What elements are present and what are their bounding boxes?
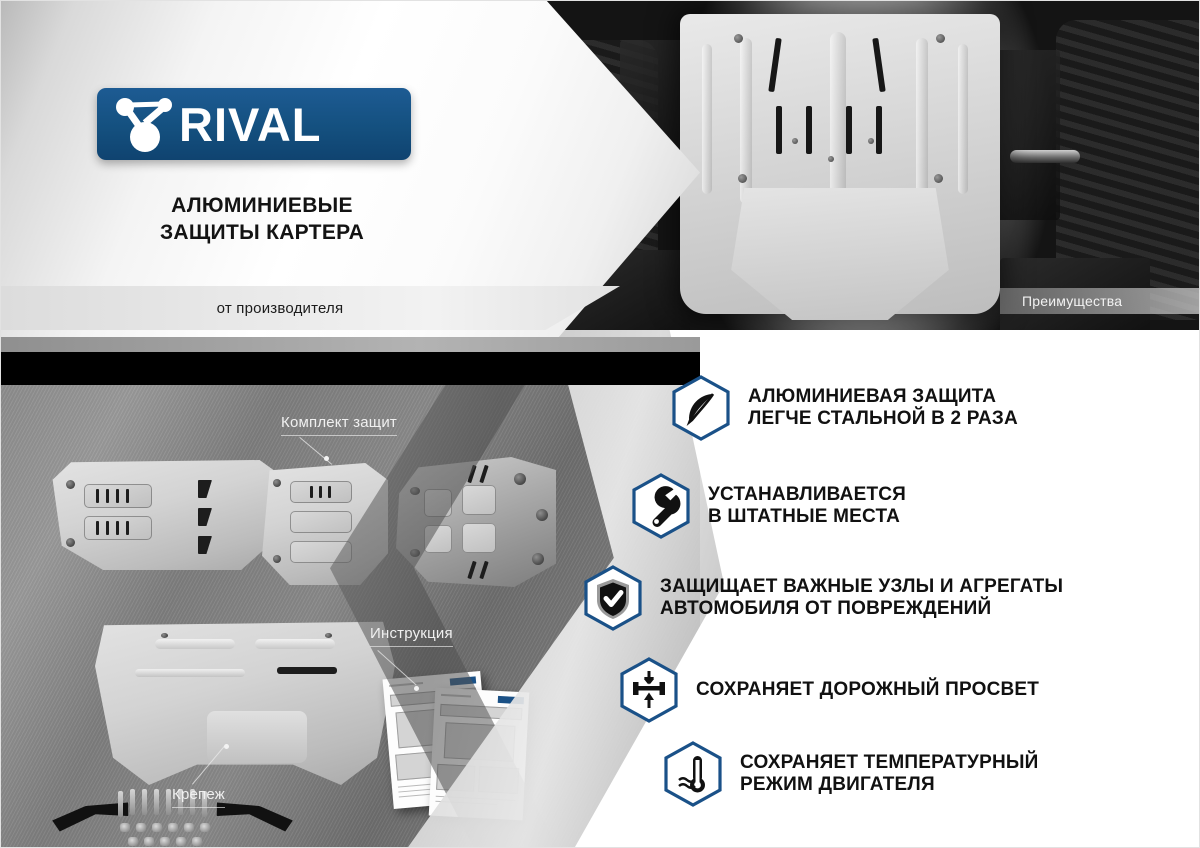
feature-text-engine-temperature: СОХРАНЯЕТ ТЕМПЕРАТУРНЫЙ РЕЖИМ ДВИГАТЕЛЯ [740, 752, 1039, 797]
promo-banner: Преимущества [0, 0, 1200, 848]
headline-line-2: ЗАЩИТЫ КАРТЕРА [97, 219, 427, 246]
header-grey-strip [0, 337, 700, 353]
feature-text-ground-clearance: СОХРАНЯЕТ ДОРОЖНЫЙ ПРОСВЕТ [696, 679, 1039, 701]
callout-instruction-label: Инструкция [370, 625, 453, 642]
skid-plate-1 [48, 460, 278, 570]
feature-item-engine-temperature: СОХРАНЯЕТ ТЕМПЕРАТУРНЫЙ РЕЖИМ ДВИГАТЕЛЯ [662, 740, 1039, 808]
page-title: АЛЮМИНИЕВЫЕ ЗАЩИТЫ КАРТЕРА [97, 192, 427, 247]
callout-dot-1 [324, 456, 329, 461]
feature-text-standard-mounting: УСТАНАВЛИВАЕТСЯ В ШТАТНЫЕ МЕСТА [708, 484, 906, 529]
callout-fasteners: Крепеж [172, 786, 225, 808]
advantages-tag-label: Преимущества [1022, 293, 1122, 309]
feature-text-aluminium-light: АЛЮМИНИЕВАЯ ЗАЩИТА ЛЕГЧЕ СТАЛЬНОЙ В 2 РА… [748, 386, 1018, 431]
leaf-icon [670, 374, 732, 442]
callout-dot-2 [414, 686, 419, 691]
callout-dot-3 [224, 744, 229, 749]
rival-logo: RIVAL [97, 88, 411, 160]
callout-protection-kit: Комплект защит [281, 414, 397, 436]
callout-instruction: Инструкция [370, 625, 453, 647]
callout-fasteners-label: Крепеж [172, 786, 225, 803]
subtitle-label: от производителя [217, 300, 404, 317]
wrench-icon [630, 472, 692, 540]
features-list: АЛЮМИНИЕВАЯ ЗАЩИТА ЛЕГЧЕ СТАЛЬНОЙ В 2 РА… [600, 358, 1200, 838]
engine-shield-plate [95, 615, 395, 785]
exhaust-link-right [1010, 150, 1080, 163]
headline-line-1: АЛЮМИНИЕВЫЕ [97, 192, 427, 219]
advantages-tag: Преимущества [1000, 288, 1200, 314]
feature-item-standard-mounting: УСТАНАВЛИВАЕТСЯ В ШТАТНЫЕ МЕСТА [630, 472, 906, 540]
feature-item-aluminium-light: АЛЮМИНИЕВАЯ ЗАЩИТА ЛЕГЧЕ СТАЛЬНОЙ В 2 РА… [670, 374, 1018, 442]
header-black-strip [0, 352, 700, 385]
ground-clearance-icon [618, 656, 680, 724]
callout-protection-kit-label: Комплект защит [281, 414, 397, 431]
thermometer-icon [662, 740, 724, 808]
feature-item-protects-units: ЗАЩИЩАЕТ ВАЖНЫЕ УЗЛЫ И АГРЕГАТЫ АВТОМОБИ… [582, 564, 1063, 632]
feature-item-ground-clearance: СОХРАНЯЕТ ДОРОЖНЫЙ ПРОСВЕТ [618, 656, 1039, 724]
subtitle-band: от производителя [0, 286, 620, 330]
aluminium-skid-plate [680, 14, 1000, 314]
molecule-icon [111, 93, 183, 155]
feature-text-protects-units: ЗАЩИЩАЕТ ВАЖНЫЕ УЗЛЫ И АГРЕГАТЫ АВТОМОБИ… [660, 576, 1063, 621]
shield-check-icon [582, 564, 644, 632]
rival-logo-wordmark: RIVAL [179, 101, 322, 148]
